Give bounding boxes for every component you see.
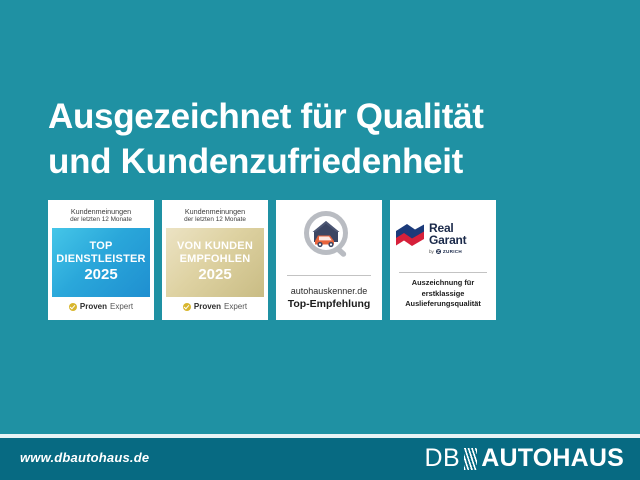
footer-bar: www.dbautohaus.de DB AUTOHAUS: [0, 438, 640, 480]
divider: [287, 275, 371, 276]
badge-award-line-1: VON KUNDEN: [177, 240, 253, 252]
badge-proven-expert-von-kunden-empfohlen[interactable]: Kundenmeinungen der letzten 12 Monate VO…: [162, 200, 268, 320]
brand-name-light: Expert: [224, 302, 247, 311]
badge-autohauskenner-top-empfehlung[interactable]: autohauskenner.de Top-Empfehlung: [276, 200, 382, 320]
badge-header-line-2: der letzten 12 Monate: [166, 216, 264, 224]
real-garant-mark-icon: [395, 223, 425, 252]
real-garant-byline: by ZURICH: [429, 249, 462, 254]
brand-name-bold: Proven: [194, 302, 221, 311]
award-badge-row: Kundenmeinungen der letzten 12 Monate TO…: [48, 200, 510, 320]
badge-real-garant[interactable]: Real Garant by ZURICH Auszeichnung für e…: [390, 200, 496, 320]
real-garant-logo: Real Garant by ZURICH: [395, 206, 491, 270]
magnifier-house-car-icon: [302, 211, 356, 266]
badge-caption: autohauskenner.de Top-Empfehlung: [288, 285, 371, 313]
promo-banner: Ausgezeichnet für Qualität und Kundenzuf…: [0, 0, 640, 480]
real-garant-wordmark: Real Garant by ZURICH: [429, 222, 491, 254]
check-circle-icon: [183, 303, 191, 311]
badge-header-line-1: Kundenmeinungen: [166, 207, 264, 216]
badge-award-year: 2025: [84, 266, 117, 285]
badge-header-line-1: Kundenmeinungen: [52, 207, 150, 216]
divider: [399, 272, 487, 273]
badge-caption-line-1: Auszeichnung für: [405, 278, 481, 289]
badge-header-line-2: der letzten 12 Monate: [52, 216, 150, 224]
zurich-mark-icon: [436, 249, 441, 254]
logo-autohaus-text: AUTOHAUS: [481, 444, 624, 473]
badge-award-year: 2025: [198, 266, 231, 285]
zurich-name: ZURICH: [443, 249, 462, 254]
badge-award-line-2: DIENSTLEISTER: [56, 253, 145, 265]
check-circle-icon: [69, 303, 77, 311]
badge-header-text: Kundenmeinungen der letzten 12 Monate: [52, 204, 150, 228]
badge-footer-brand: Proven Expert: [166, 297, 264, 316]
badge-award-panel: TOP DIENSTLEISTER 2025: [52, 228, 150, 297]
website-url[interactable]: www.dbautohaus.de: [20, 450, 149, 465]
badge-footer-brand: Proven Expert: [52, 297, 150, 316]
badge-caption-line-1: autohauskenner.de: [288, 285, 371, 297]
page-title: Ausgezeichnet für Qualität und Kundenzuf…: [48, 95, 608, 185]
badge-award-panel: VON KUNDEN EMPFOHLEN 2025: [166, 228, 264, 297]
logo-stripes-icon: [464, 448, 477, 470]
brand-name-light: Expert: [110, 302, 133, 311]
real-garant-name: Real Garant: [429, 222, 491, 247]
badge-header-text: Kundenmeinungen der letzten 12 Monate: [166, 204, 264, 228]
brand-name-bold: Proven: [80, 302, 107, 311]
byline-prefix: by: [429, 249, 434, 254]
headline-line-1: Ausgezeichnet für Qualität: [48, 95, 608, 140]
headline-line-2: und Kundenzufriedenheit: [48, 140, 608, 185]
badge-award-line-2: EMPFOHLEN: [180, 253, 251, 265]
badge-caption-line-2: erstklassige: [405, 289, 481, 300]
db-autohaus-logo[interactable]: DB AUTOHAUS: [424, 444, 624, 473]
badge-caption: Auszeichnung für erstklassige Auslieferu…: [405, 278, 481, 313]
badge-caption-line-3: Auslieferungsqualität: [405, 299, 481, 310]
logo-db-text: DB: [424, 444, 460, 473]
badge-caption-line-2: Top-Empfehlung: [288, 297, 371, 311]
badge-award-line-1: TOP: [89, 240, 112, 252]
badge-proven-expert-top-dienstleister[interactable]: Kundenmeinungen der letzten 12 Monate TO…: [48, 200, 154, 320]
